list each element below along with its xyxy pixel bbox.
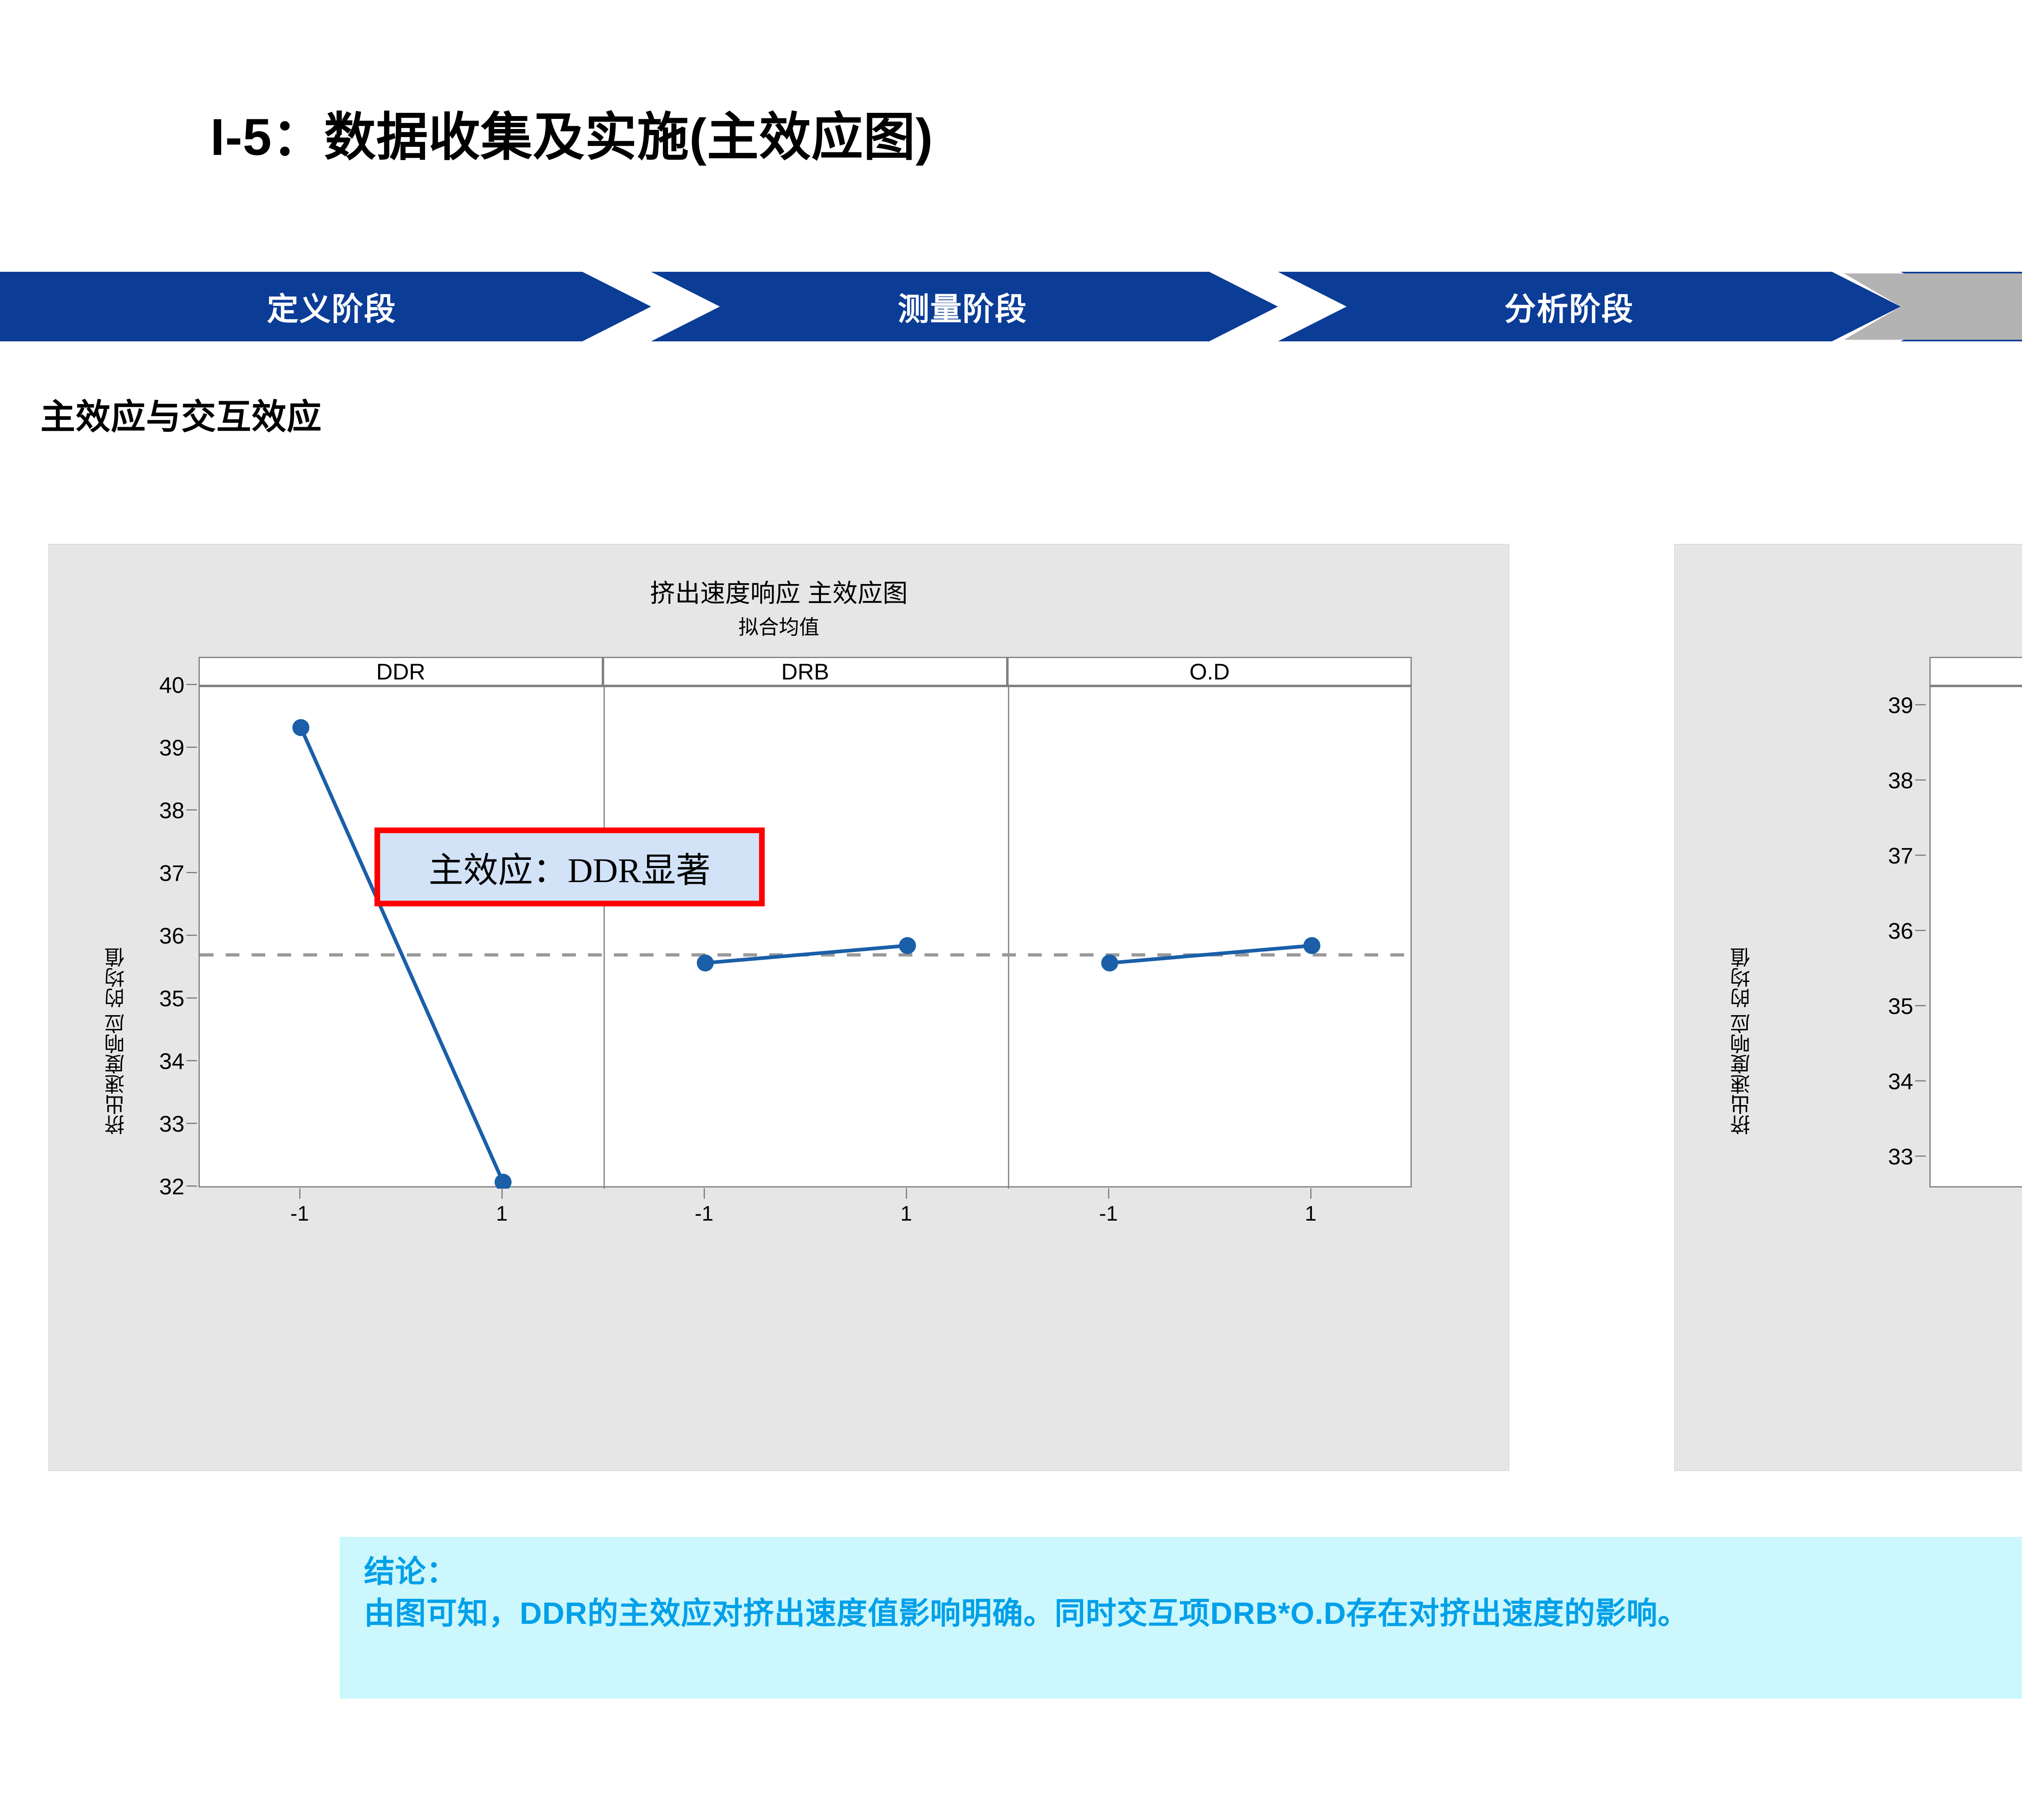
panel-label-ddr: DDR: [376, 658, 425, 685]
interaction-title: 挤出速度响应 交互作用图: [1553, 573, 2022, 609]
ytickmark-32: [186, 1185, 197, 1187]
ytickmark-36: [186, 935, 197, 936]
int-ytick-39: 39: [1735, 692, 1913, 718]
xtick-drb-pos1: 1: [858, 1202, 955, 1226]
int-ytick-33: 33: [1735, 1143, 1913, 1170]
panel-header-drb-od: DRB * O.D: [1929, 657, 2022, 686]
panel-header-od: O.D: [1007, 657, 1412, 686]
page-title: I-5：数据收集及实施(主效应图): [210, 95, 933, 170]
ytickmark-34: [186, 1060, 197, 1061]
main-effects-plot-area: [199, 686, 1412, 1187]
panel-header-drb: DRB: [603, 657, 1007, 686]
xtick-od-pos1: 1: [1262, 1202, 1359, 1226]
int-ytickmark-35: [1915, 1005, 1926, 1006]
phase-bar: 定义阶段 测量阶段 分析阶段 改进阶段 控制阶段: [0, 272, 2022, 341]
phase-item-measure[interactable]: 测量阶段: [760, 272, 1165, 341]
phase-label-measure: 测量阶段: [898, 284, 1027, 329]
int-ytick-38: 38: [1735, 767, 1913, 794]
main-effects-chart: 挤出速度响应 主效应图 拟合均值 DDR DRB O.D 挤出速度响应 的均值 …: [49, 544, 1509, 1471]
ytick-36: 36: [97, 923, 184, 949]
conclusion-heading: 结论：: [364, 1551, 2022, 1593]
xtickmark-od-pos1: [1310, 1188, 1311, 1199]
phase-label-analyze: 分析阶段: [1504, 284, 1634, 329]
phase-item-analyze[interactable]: 分析阶段: [1367, 272, 1771, 341]
int-ytickmark-33: [1915, 1155, 1926, 1157]
interaction-subtitle: 拟合均值: [1553, 611, 2022, 640]
interaction-chart: 挤出速度响应 交互作用图 拟合均值 DRB * O.D 挤出速度响应 的均值 3…: [1674, 544, 2022, 1471]
panel-label-drb: DRB: [781, 658, 829, 685]
section-subheading: 主效应与交互效应: [40, 388, 322, 439]
xtick-ddr-neg1: -1: [251, 1202, 348, 1226]
ytick-38: 38: [97, 797, 184, 823]
main-effects-title: 挤出速度响应 主效应图: [49, 573, 1509, 609]
interaction-xlabel: DRB: [1929, 1246, 2022, 1270]
ytick-35: 35: [97, 985, 184, 1012]
panel-header-ddr: DDR: [199, 657, 603, 686]
int-ytickmark-37: [1915, 855, 1926, 856]
ytickmark-35: [186, 997, 197, 999]
int-ytick-37: 37: [1735, 842, 1913, 869]
int-ytickmark-34: [1915, 1080, 1926, 1081]
series-ddr: [292, 719, 512, 1189]
annotation-callout: 主效应：DDR显著: [374, 827, 765, 906]
int-ytickmark-36: [1915, 930, 1926, 931]
main-effects-subtitle: 拟合均值: [49, 611, 1509, 640]
panel-label-od: O.D: [1189, 658, 1230, 685]
ytick-40: 40: [97, 672, 184, 698]
phase-item-improve[interactable]: 改进阶段: [1990, 272, 2022, 341]
int-ytickmark-39: [1915, 704, 1926, 705]
xtick-drb-neg1: -1: [656, 1202, 753, 1226]
ytick-32: 32: [97, 1173, 184, 1200]
phase-item-define[interactable]: 定义阶段: [129, 272, 534, 341]
ytickmark-37: [186, 872, 197, 873]
int-ytick-36: 36: [1735, 918, 1913, 944]
xtickmark-drb-neg1: [704, 1188, 705, 1199]
ytickmark-39: [186, 747, 197, 748]
conclusion-body: 由图可知，DDR的主效应对挤出速度值影响明确。同时交互项DRB*O.D存在对挤出…: [364, 1593, 2022, 1635]
ytickmark-33: [186, 1123, 197, 1124]
int-ytick-35: 35: [1735, 993, 1913, 1019]
ytick-34: 34: [97, 1048, 184, 1074]
ytickmark-40: [186, 684, 197, 685]
conclusion-box: 结论： 由图可知，DDR的主效应对挤出速度值影响明确。同时交互项DRB*O.D存…: [340, 1537, 2022, 1699]
xtickmark-drb-pos1: [906, 1188, 907, 1199]
int-ytick-34: 34: [1735, 1068, 1913, 1094]
int-ytickmark-38: [1915, 779, 1926, 781]
ytick-39: 39: [97, 734, 184, 761]
xtickmark-ddr-pos1: [501, 1188, 503, 1199]
ytick-37: 37: [97, 860, 184, 886]
slide-root: I-5：数据收集及实施(主效应图) HTGD 定义阶段 测量阶段 分析阶段: [0, 0, 2022, 1820]
xtickmark-ddr-neg1: [299, 1188, 300, 1199]
ytick-33: 33: [97, 1111, 184, 1137]
xtickmark-od-neg1: [1108, 1188, 1109, 1199]
xtick-od-neg1: -1: [1060, 1202, 1157, 1226]
interaction-plot-area: [1929, 686, 2022, 1187]
ytickmark-38: [186, 809, 197, 811]
phase-label-define: 定义阶段: [267, 284, 396, 329]
xtick-ddr-pos1: 1: [453, 1202, 550, 1226]
